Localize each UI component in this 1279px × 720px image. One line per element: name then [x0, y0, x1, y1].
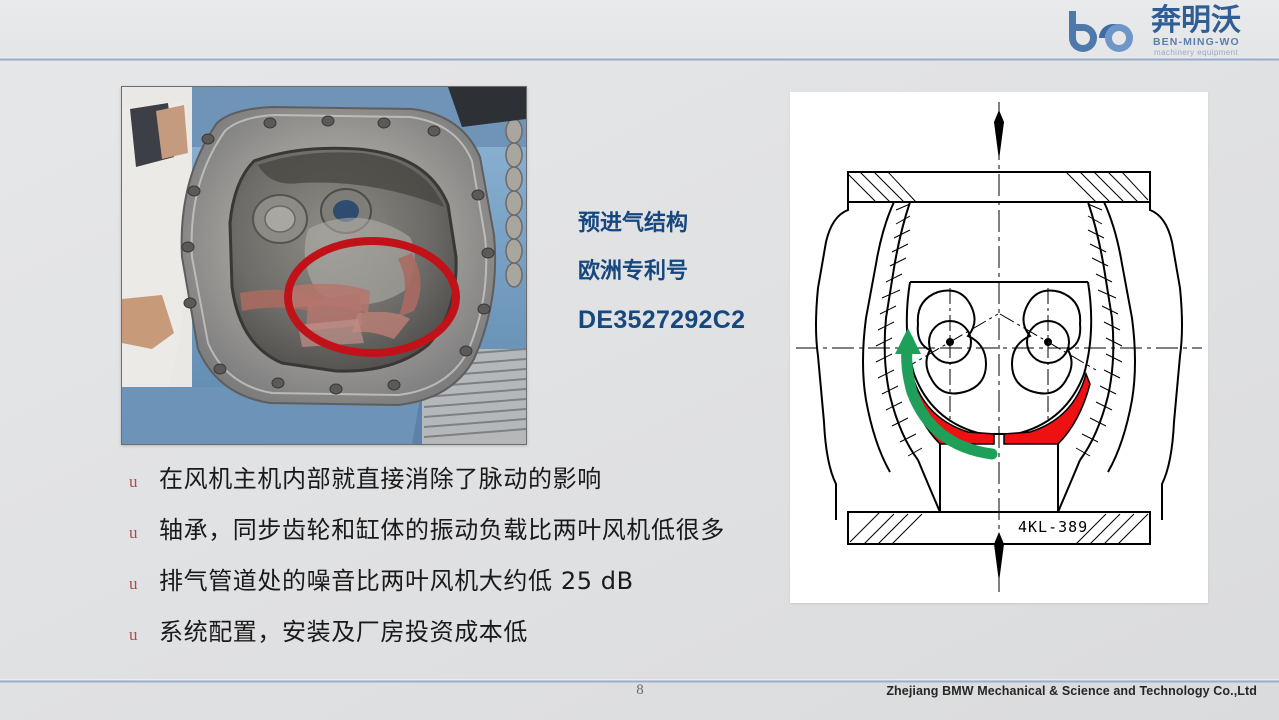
- blower-cross-section-diagram: 4KL-389: [790, 92, 1208, 603]
- list-item: u 在风机主机内部就直接消除了脉动的影响: [122, 459, 822, 510]
- footer-company-name: Zhejiang BMW Mechanical & Science and Te…: [886, 684, 1257, 698]
- company-logo: 奔明沃 BEN-MING-WO machinery equipment: [1063, 4, 1275, 58]
- bullet-marker-icon: u: [122, 574, 159, 594]
- bullet-text: 排气管道处的噪音比两叶风机大约低 25 dB: [159, 561, 634, 596]
- logo-chinese-name: 奔明沃: [1151, 4, 1241, 38]
- blower-casing-photo: [121, 86, 527, 445]
- patent-heading: 预进气结构 欧洲专利号 DE3527292C2: [578, 200, 788, 344]
- list-item: u 轴承，同步齿轮和缸体的振动负载比两叶风机低很多: [122, 510, 822, 561]
- logo-tagline: machinery equipment: [1154, 48, 1238, 57]
- heading-line-1: 预进气结构: [578, 200, 788, 248]
- bullet-text: 系统配置，安装及厂房投资成本低: [159, 612, 528, 647]
- drawing-label: 4KL-389: [1018, 518, 1088, 536]
- photo-image: [122, 87, 526, 444]
- diagram-drawing: 4KL-389: [790, 92, 1208, 603]
- slide-canvas: 奔明沃 BEN-MING-WO machinery equipment: [0, 0, 1279, 720]
- bullet-text: 轴承，同步齿轮和缸体的振动负载比两叶风机低很多: [159, 510, 725, 545]
- bullet-text: 在风机主机内部就直接消除了脉动的影响: [159, 459, 602, 494]
- logo-english-name: BEN-MING-WO: [1153, 36, 1240, 48]
- feature-bullet-list: u 在风机主机内部就直接消除了脉动的影响 u 轴承，同步齿轮和缸体的振动负载比两…: [122, 459, 822, 663]
- patent-number: DE3527292C2: [578, 296, 788, 344]
- list-item: u 系统配置，安装及厂房投资成本低: [122, 612, 822, 663]
- bullet-marker-icon: u: [122, 523, 159, 543]
- bo-monogram-icon: [1063, 8, 1151, 54]
- bullet-marker-icon: u: [122, 472, 159, 492]
- page-number: 8: [590, 682, 690, 699]
- bullet-marker-icon: u: [122, 625, 159, 645]
- list-item: u 排气管道处的噪音比两叶风机大约低 25 dB: [122, 561, 822, 612]
- heading-line-2: 欧洲专利号: [578, 248, 788, 296]
